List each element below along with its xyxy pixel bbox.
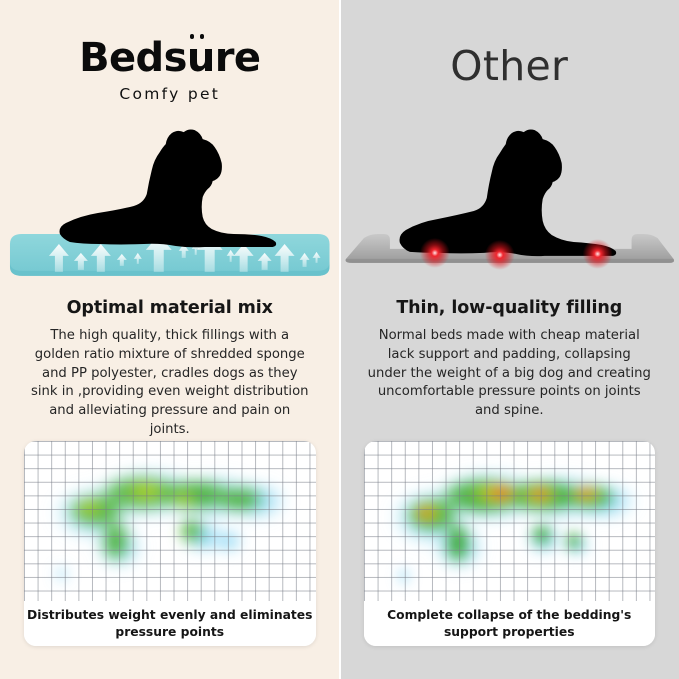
brand-name-u: u (187, 35, 215, 81)
heatmap-grid-lines-right (364, 441, 656, 601)
brand-name: Bedsure (79, 38, 260, 78)
bedsure-heading: Optimal material mix (12, 298, 328, 318)
other-caption-text: Complete collapse of the bedding's suppo… (364, 607, 656, 639)
brand-name-post: re (215, 35, 261, 81)
brand-logo: Bedsure Comfy pet (0, 38, 340, 103)
bedsure-heatmap-card: Distributes weight evenly and eliminates… (24, 441, 316, 646)
pressure-point-elbow (582, 239, 612, 269)
brand-name-u-smiley: u (187, 38, 215, 78)
bedsure-illustration (0, 122, 340, 287)
umlaut-dot-left-icon (190, 34, 195, 39)
other-heatmap-card: Complete collapse of the bedding's suppo… (364, 441, 656, 646)
panel-bedsure: Bedsure Comfy pet (0, 0, 340, 679)
other-title: Other (340, 42, 679, 90)
panel-divider (339, 0, 341, 679)
bedsure-caption-text: Distributes weight evenly and eliminates… (24, 607, 316, 639)
brand-tagline: Comfy pet (0, 85, 340, 103)
umlaut-dot-right-icon (200, 34, 205, 39)
bedsure-copy: Optimal material mix The high quality, t… (12, 298, 328, 440)
panel-other: Other (340, 0, 679, 679)
comparison-board: Bedsure Comfy pet (0, 0, 679, 679)
other-header: Other (340, 0, 679, 122)
other-caption: Complete collapse of the bedding's suppo… (364, 601, 656, 646)
heatmap-grid-lines-left (24, 441, 316, 601)
pressure-point-hip (419, 238, 449, 268)
pressure-point-shoulder (484, 240, 514, 270)
bedsure-heatmap (24, 441, 316, 601)
bedsure-body-text: The high quality, thick fillings with a … (12, 327, 328, 439)
other-heading: Thin, low-quality filling (352, 298, 668, 318)
other-body-text: Normal beds made with cheap material lac… (352, 327, 668, 421)
dog-on-thick-mattress-graphic (0, 122, 340, 287)
other-copy: Thin, low-quality filling Normal beds ma… (352, 298, 668, 421)
other-illustration (340, 122, 679, 287)
dog-silhouette (399, 129, 616, 256)
dog-silhouette (60, 129, 277, 247)
bedsure-header: Bedsure Comfy pet (0, 0, 340, 122)
dog-on-flat-mat-graphic (340, 122, 679, 287)
brand-name-pre: Beds (79, 35, 187, 81)
other-heatmap (364, 441, 656, 601)
bedsure-caption: Distributes weight evenly and eliminates… (24, 601, 316, 646)
